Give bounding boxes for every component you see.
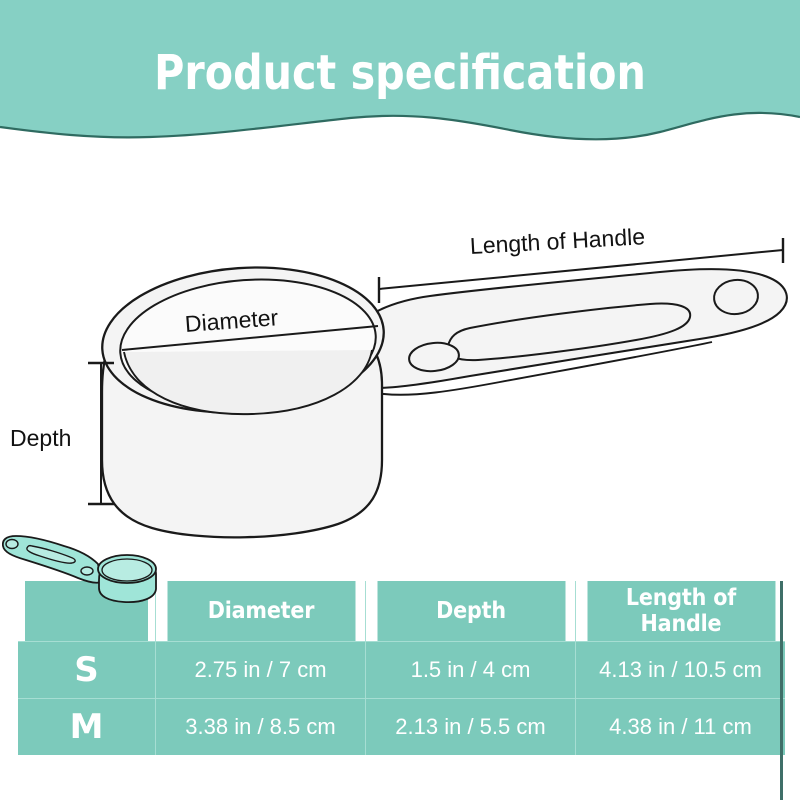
- cell-s-length-of-handle: 4.13 in / 10.5 cm: [576, 642, 786, 699]
- mini-measuring-scoop-icon: [2, 528, 180, 604]
- cell-m-depth: 2.13 in / 5.5 cm: [366, 699, 576, 756]
- mini-scoop-illustration: [2, 528, 180, 604]
- header-banner: Product specification: [0, 0, 800, 160]
- header-cell-depth: Depth: [376, 581, 565, 642]
- cell-s-depth: 1.5 in / 4 cm: [366, 642, 576, 699]
- scoop-diagram: Diameter Depth Length of Handle: [0, 160, 800, 580]
- depth-label: Depth: [10, 425, 71, 452]
- row-size-s: S: [18, 642, 156, 699]
- header-cell-diameter: Diameter: [166, 581, 355, 642]
- page-title: Product specification: [56, 48, 744, 98]
- cell-m-length-of-handle: 4.38 in / 11 cm: [576, 699, 786, 756]
- cell-s-diameter: 2.75 in / 7 cm: [156, 642, 366, 699]
- scoop-line-drawing: [0, 160, 800, 580]
- header-cell-length-of-handle: Length of Handle: [586, 581, 775, 642]
- table-right-edge: [780, 581, 783, 800]
- table-row: M 3.38 in / 8.5 cm 2.13 in / 5.5 cm 4.38…: [18, 699, 785, 756]
- product-specification-page: Product specification: [0, 0, 800, 800]
- specification-table: Diameter Depth Length of Handle S 2.75 i…: [18, 581, 785, 755]
- cell-m-diameter: 3.38 in / 8.5 cm: [156, 699, 366, 756]
- table-row: S 2.75 in / 7 cm 1.5 in / 4 cm 4.13 in /…: [18, 642, 785, 699]
- row-size-m: M: [18, 699, 156, 756]
